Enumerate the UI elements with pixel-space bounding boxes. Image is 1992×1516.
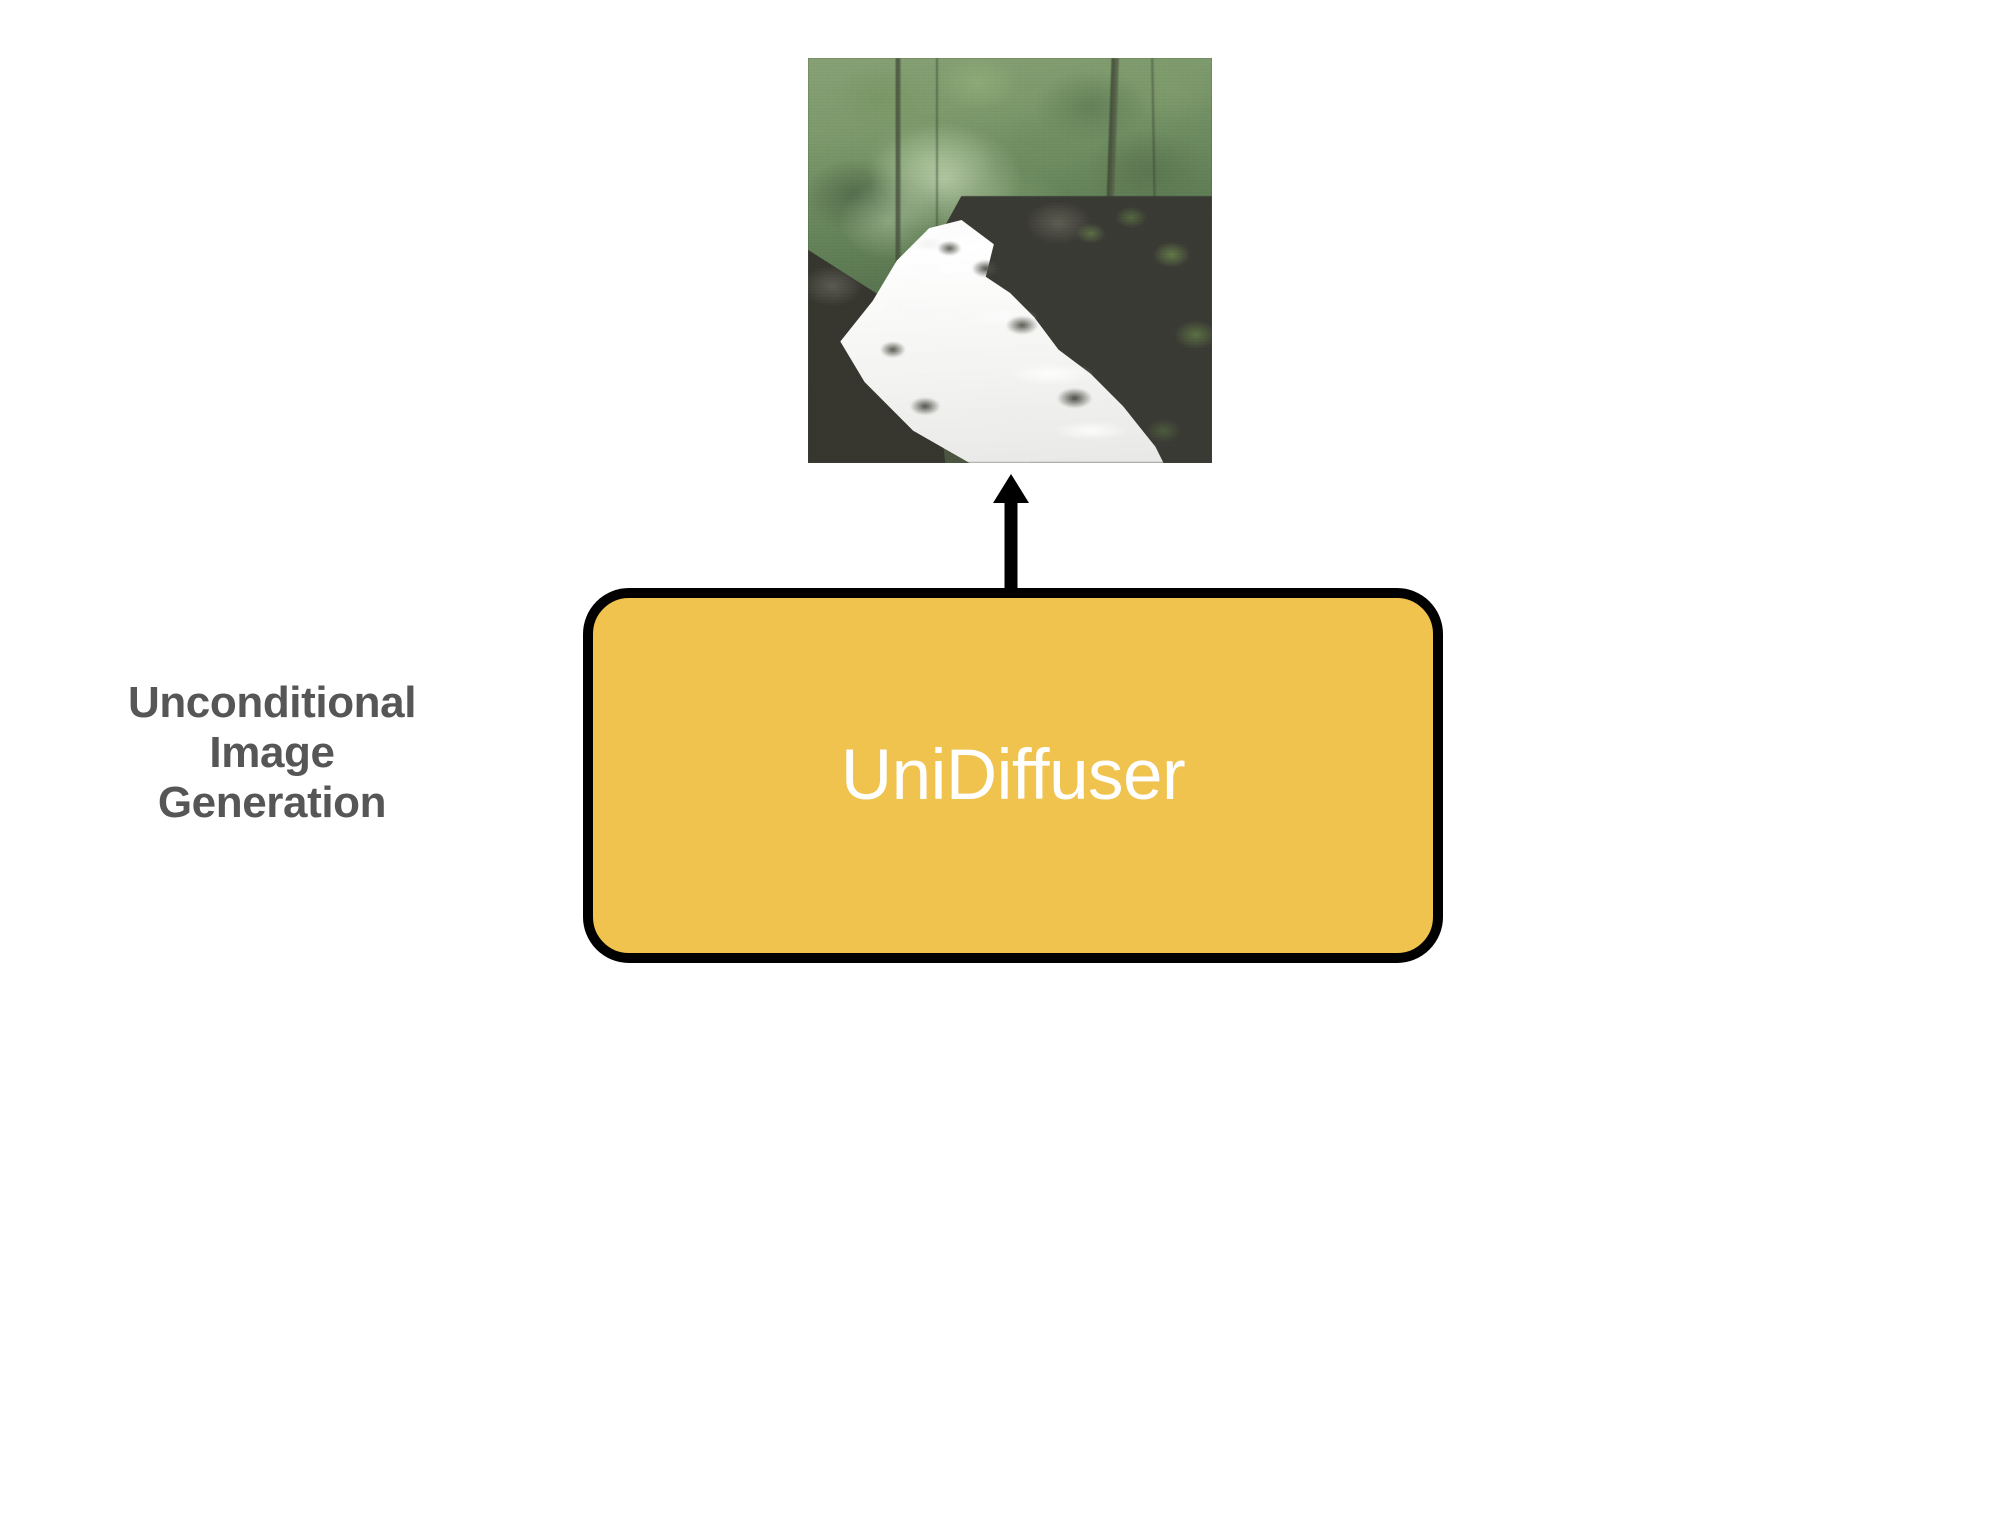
image-grain-layer xyxy=(808,58,1212,463)
output-arrow-icon xyxy=(976,470,1046,595)
task-label-line-2: Image xyxy=(72,728,472,778)
diagram-canvas: UniDiffuser Unconditional Image Generati… xyxy=(0,0,1992,1516)
generated-forest-stream-image xyxy=(808,58,1212,463)
unconditional-image-generation-label: Unconditional Image Generation xyxy=(72,678,472,828)
task-label-line-3: Generation xyxy=(72,778,472,828)
task-label-line-1: Unconditional xyxy=(72,678,472,728)
unidiffuser-model-box[interactable]: UniDiffuser xyxy=(583,588,1443,963)
unidiffuser-model-label: UniDiffuser xyxy=(841,740,1185,811)
